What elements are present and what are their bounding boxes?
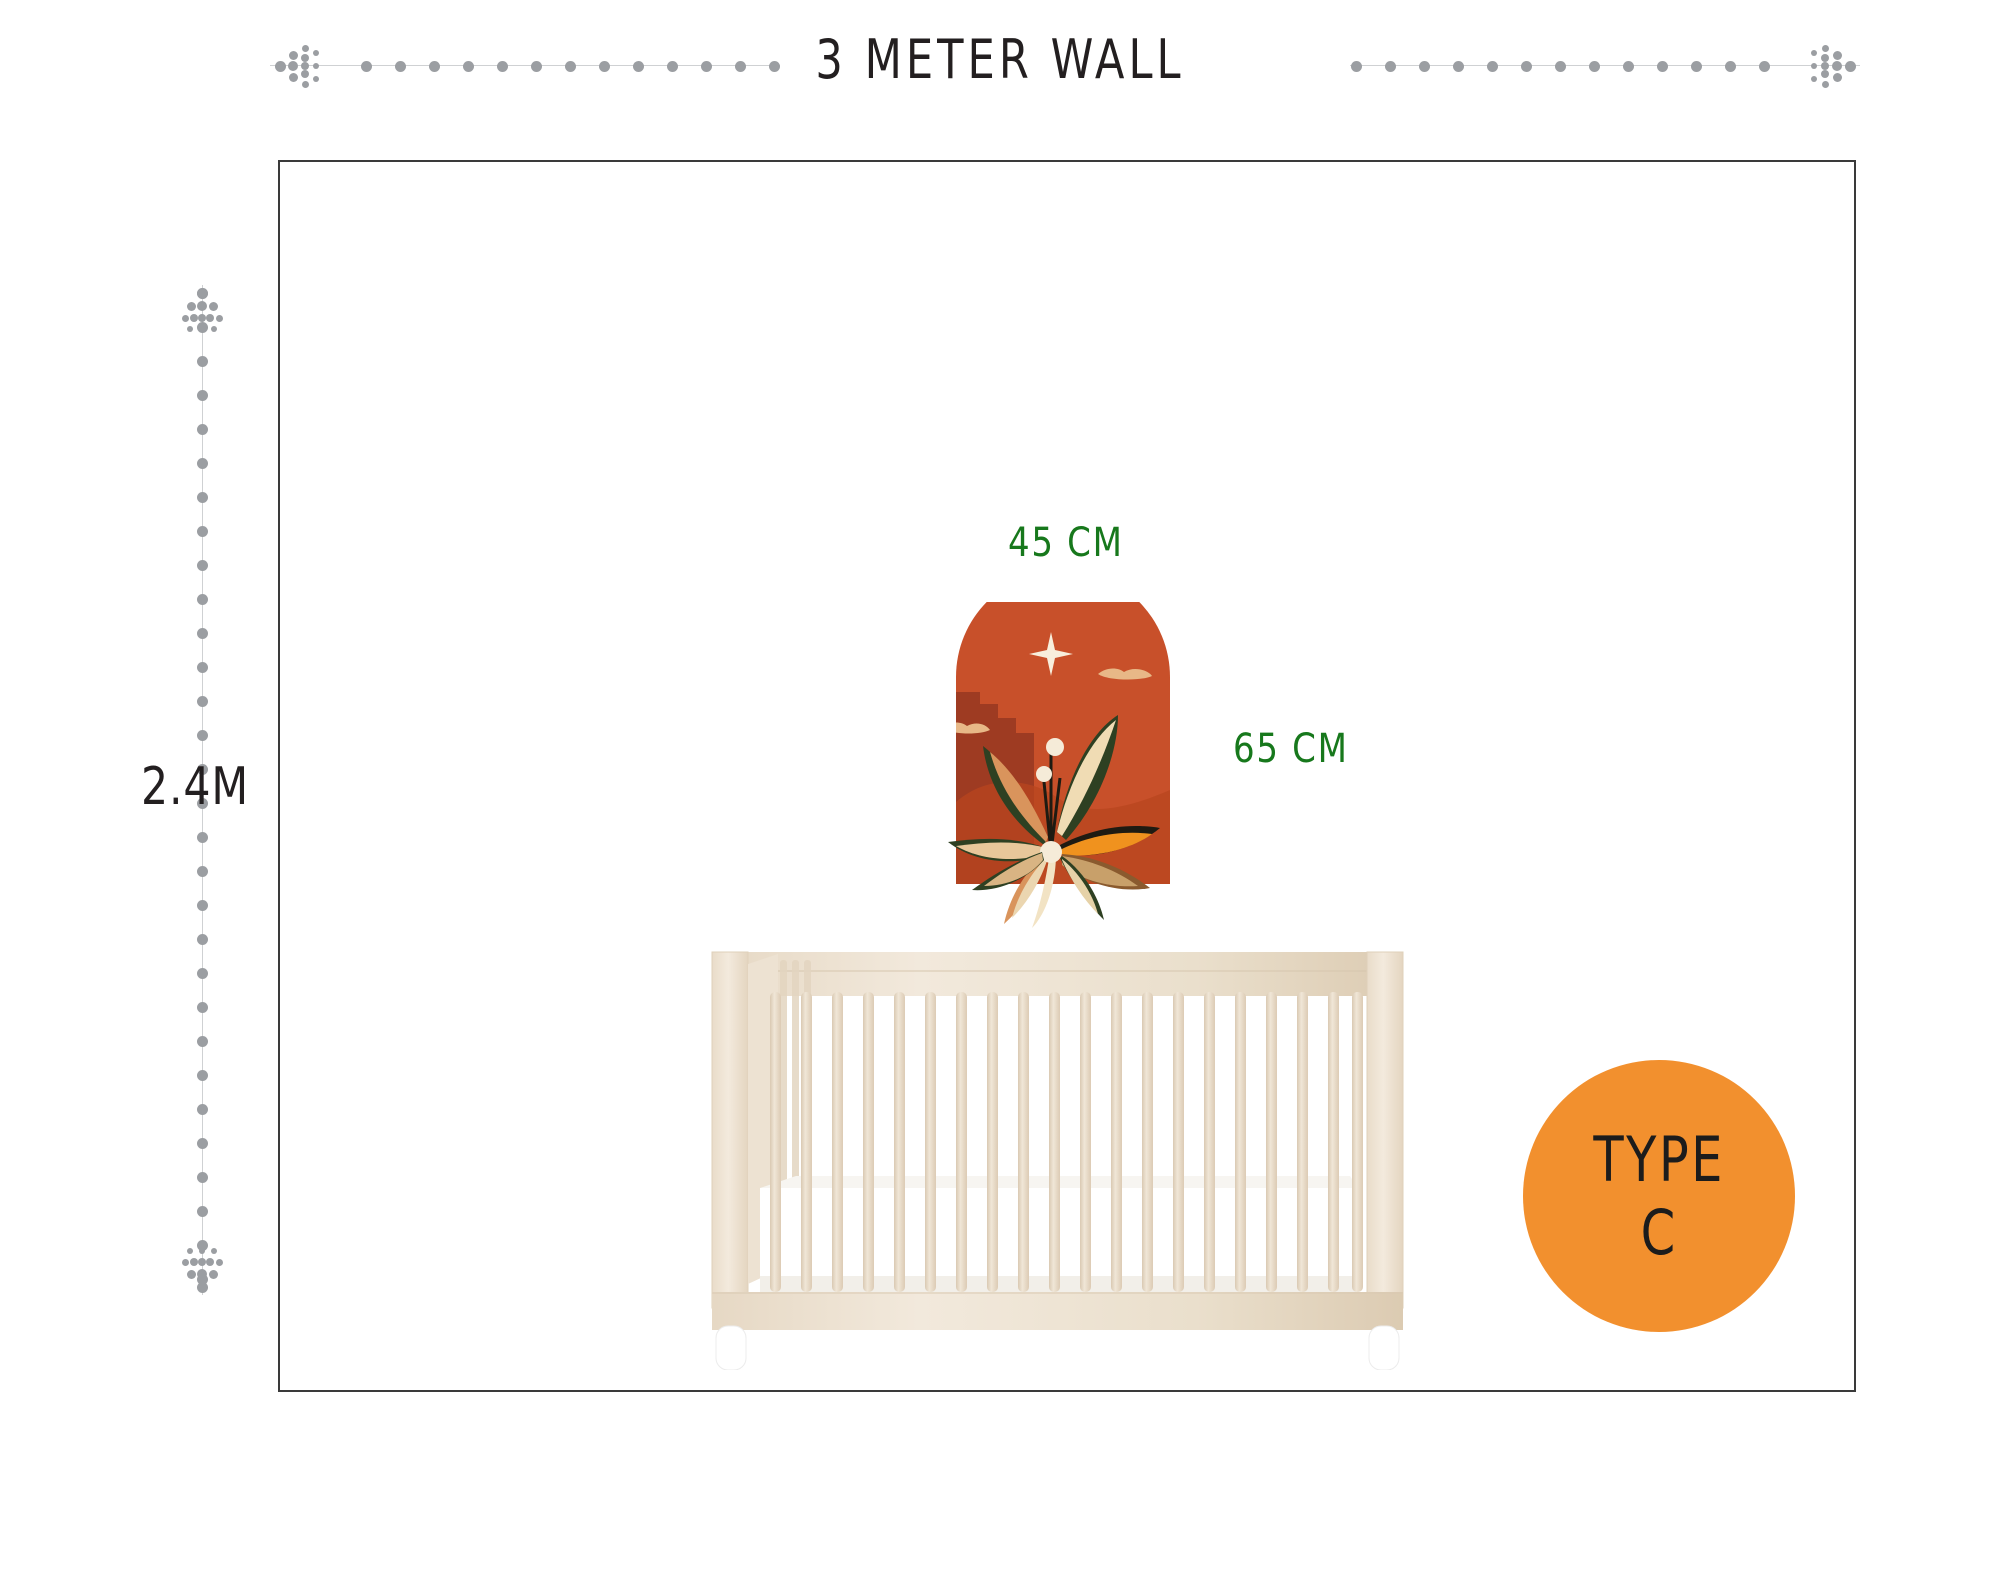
arrowhead-dot [199, 326, 205, 332]
rail-dot [197, 730, 208, 741]
rail-dot [197, 1138, 208, 1149]
decal-width-label: 45 CM [1008, 520, 1124, 566]
rail-dot [197, 1206, 208, 1217]
rail-dot [1419, 61, 1430, 72]
rail-dot [1725, 61, 1736, 72]
arrowhead-dot [187, 1248, 193, 1254]
badge-line-1: TYPE [1593, 1128, 1724, 1191]
dotted-arrow-right-icon [1350, 46, 1860, 86]
rail-dot [1691, 61, 1702, 72]
arrowhead-dot [1822, 81, 1829, 88]
arrowhead-dot [1821, 62, 1829, 70]
arrowhead-dot [1821, 54, 1829, 62]
arrowhead-dot [197, 1282, 208, 1293]
status-badge: TYPE C [1523, 1060, 1795, 1332]
arrowhead-dot [182, 315, 189, 322]
rail-dot [197, 560, 208, 571]
arrowhead-dot [1833, 73, 1842, 82]
arrowhead-dot [197, 1269, 207, 1279]
arrowhead-dot [216, 315, 223, 322]
rail-dot [197, 356, 208, 367]
rail-dot [1589, 61, 1600, 72]
rail-dot [197, 594, 208, 605]
arrowhead-dot [1811, 50, 1817, 56]
badge-line-2: C [1640, 1201, 1677, 1264]
arrowhead-dot [216, 1259, 223, 1266]
rail-dot [1623, 61, 1634, 72]
arrowhead-dot [187, 326, 193, 332]
rail-dot [1555, 61, 1566, 72]
arrowhead-dot [197, 288, 208, 299]
rail-dot [1657, 61, 1668, 72]
rail-dot [197, 424, 208, 435]
arrowhead-dot [198, 1258, 206, 1266]
rail-dot [197, 968, 208, 979]
rail-dot [197, 1172, 208, 1183]
arrowhead-dot [211, 326, 217, 332]
arrowhead-dot [1822, 45, 1829, 52]
rail-dot [197, 696, 208, 707]
rail-dot [1453, 61, 1464, 72]
arrowhead-dot [187, 1270, 196, 1279]
arrowhead-dot [1811, 63, 1817, 69]
rail-dot [197, 934, 208, 945]
rail-dot [1385, 61, 1396, 72]
arrowhead-dot [1832, 61, 1842, 71]
header: 3 METER WALL [0, 0, 2000, 130]
arrowhead-dot [190, 1258, 198, 1266]
arrowhead-dot [190, 314, 198, 322]
arrowhead-dot [198, 314, 206, 322]
arrowhead-dot [182, 1259, 189, 1266]
wall-height-label: 2.4M [125, 757, 264, 817]
rail-dot [197, 492, 208, 503]
arrowhead-dot [1845, 61, 1856, 72]
rail-dot [1759, 61, 1770, 72]
arrowhead-dot [211, 1248, 217, 1254]
rail-dot [197, 628, 208, 639]
rail-dot [197, 1002, 208, 1013]
rail-dot [1487, 61, 1498, 72]
arrowhead-dot [1833, 51, 1842, 60]
arrowhead-dot [206, 1258, 214, 1266]
wooden-crib [700, 940, 1415, 1370]
arrowhead-dot [209, 1270, 218, 1279]
rail-dot [1521, 61, 1532, 72]
rail-dot [197, 1104, 208, 1115]
rail-dot [197, 1070, 208, 1081]
arrowhead-dot [1811, 76, 1817, 82]
rail-dot [197, 390, 208, 401]
rail-dot [197, 1036, 208, 1047]
arrowhead-dot [1821, 70, 1829, 78]
arrowhead-dot [187, 302, 196, 311]
rail-dot [197, 866, 208, 877]
decal-height-label: 65 CM [1233, 726, 1349, 772]
arrowhead-dot [197, 301, 207, 311]
arrowhead-dot [206, 314, 214, 322]
rail-dot [197, 662, 208, 673]
rail-dot [197, 526, 208, 537]
rail-dot [1351, 61, 1362, 72]
boho-arch-plant-decal [938, 602, 1188, 932]
arrowhead-dot [199, 1248, 205, 1254]
rail-dot [197, 832, 208, 843]
arrowhead-dot [209, 302, 218, 311]
rail-dot [197, 900, 208, 911]
rail-dot [197, 458, 208, 469]
